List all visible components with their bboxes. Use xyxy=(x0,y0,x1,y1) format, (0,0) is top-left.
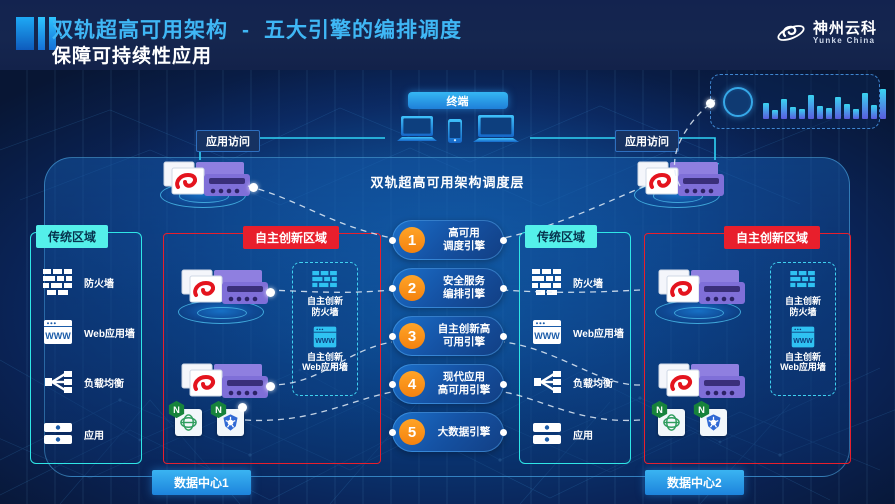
engine-label: 现代应用高可用引擎 xyxy=(425,371,503,397)
engine-connector-dot-left xyxy=(389,429,396,436)
engine-connector-dot-right xyxy=(500,381,507,388)
traditional-zone-tag-dc1: 传统区域 xyxy=(36,225,108,248)
engine-item-3[interactable]: 3自主创新高可用引擎 xyxy=(392,316,504,356)
slide-canvas: 双轨超高可用架构-五大引擎的编排调度 保障可持续性应用 神州云科 Yunke C… xyxy=(0,0,895,504)
engine-label-line1: 自主创新高 xyxy=(438,323,491,335)
engine-label-line1: 安全服务 xyxy=(443,275,485,287)
engine-label-line1: 现代应用 xyxy=(443,371,485,383)
logo-name-en: Yunke China xyxy=(813,37,877,45)
engine-label: 大数据引擎 xyxy=(425,426,503,439)
engine-item-2[interactable]: 2安全服务编排引擎 xyxy=(392,268,504,308)
logo-name-cn: 神州云科 xyxy=(813,21,877,36)
autonomous-zone-tag-dc2: 自主创新区域 xyxy=(724,226,820,249)
connector-dot xyxy=(266,382,275,391)
engine-item-4[interactable]: 4现代应用高可用引擎 xyxy=(392,364,504,404)
engine-label-line2: 可用引擎 xyxy=(443,336,485,348)
title-dash: - xyxy=(228,19,264,42)
engine-connector-dot-right xyxy=(500,285,507,292)
engine-label-line1: 高可用 xyxy=(448,227,480,239)
brand-logo: 神州云科 Yunke China xyxy=(776,20,877,46)
page-title: 双轨超高可用架构-五大引擎的编排调度 xyxy=(52,14,462,44)
engine-number: 2 xyxy=(399,275,425,301)
traditional-zone-tag-dc2: 传统区域 xyxy=(525,225,597,248)
engine-label: 安全服务编排引擎 xyxy=(425,275,503,301)
title-accent-bars xyxy=(16,17,56,50)
engine-item-1[interactable]: 1高可用调度引擎 xyxy=(392,220,504,260)
engine-connector-dot-right xyxy=(500,333,507,340)
yunke-swirl-icon xyxy=(776,20,806,46)
engine-label-line2: 编排引擎 xyxy=(443,288,485,300)
connector-dot xyxy=(249,183,258,192)
engine-label-line2: 高可用引擎 xyxy=(438,384,491,396)
datacenter-label-2: 数据中心2 xyxy=(645,470,744,495)
engine-list: 1高可用调度引擎2安全服务编排引擎3自主创新高可用引擎4现代应用高可用引擎5大数… xyxy=(392,220,504,460)
engine-label: 自主创新高可用引擎 xyxy=(425,323,503,349)
engine-connector-dot-left xyxy=(389,237,396,244)
engine-label-line1: 大数据引擎 xyxy=(438,426,491,438)
title-sub: 五大引擎的编排调度 xyxy=(264,19,462,42)
engine-number: 1 xyxy=(399,227,425,253)
engine-connector-dot-left xyxy=(389,285,396,292)
engine-item-5[interactable]: 5大数据引擎 xyxy=(392,412,504,452)
engine-connector-dot-right xyxy=(500,429,507,436)
engine-connector-dot-left xyxy=(389,333,396,340)
engine-connector-dot-left xyxy=(389,381,396,388)
engine-number: 3 xyxy=(399,323,425,349)
engine-connector-dot-right xyxy=(500,237,507,244)
page-subtitle: 保障可持续性应用 xyxy=(52,41,212,68)
connector-dot xyxy=(266,288,275,297)
autonomous-zone-tag-dc1: 自主创新区域 xyxy=(243,226,339,249)
engine-label: 高可用调度引擎 xyxy=(425,227,503,253)
header-bar: 双轨超高可用架构-五大引擎的编排调度 保障可持续性应用 神州云科 Yunke C… xyxy=(0,0,895,70)
logo-text: 神州云科 Yunke China xyxy=(813,21,877,44)
title-main: 双轨超高可用架构 xyxy=(52,19,228,42)
engine-label-line2: 调度引擎 xyxy=(443,240,485,252)
datacenter-label-1: 数据中心1 xyxy=(152,470,251,495)
engine-number: 5 xyxy=(399,419,425,445)
engine-number: 4 xyxy=(399,371,425,397)
